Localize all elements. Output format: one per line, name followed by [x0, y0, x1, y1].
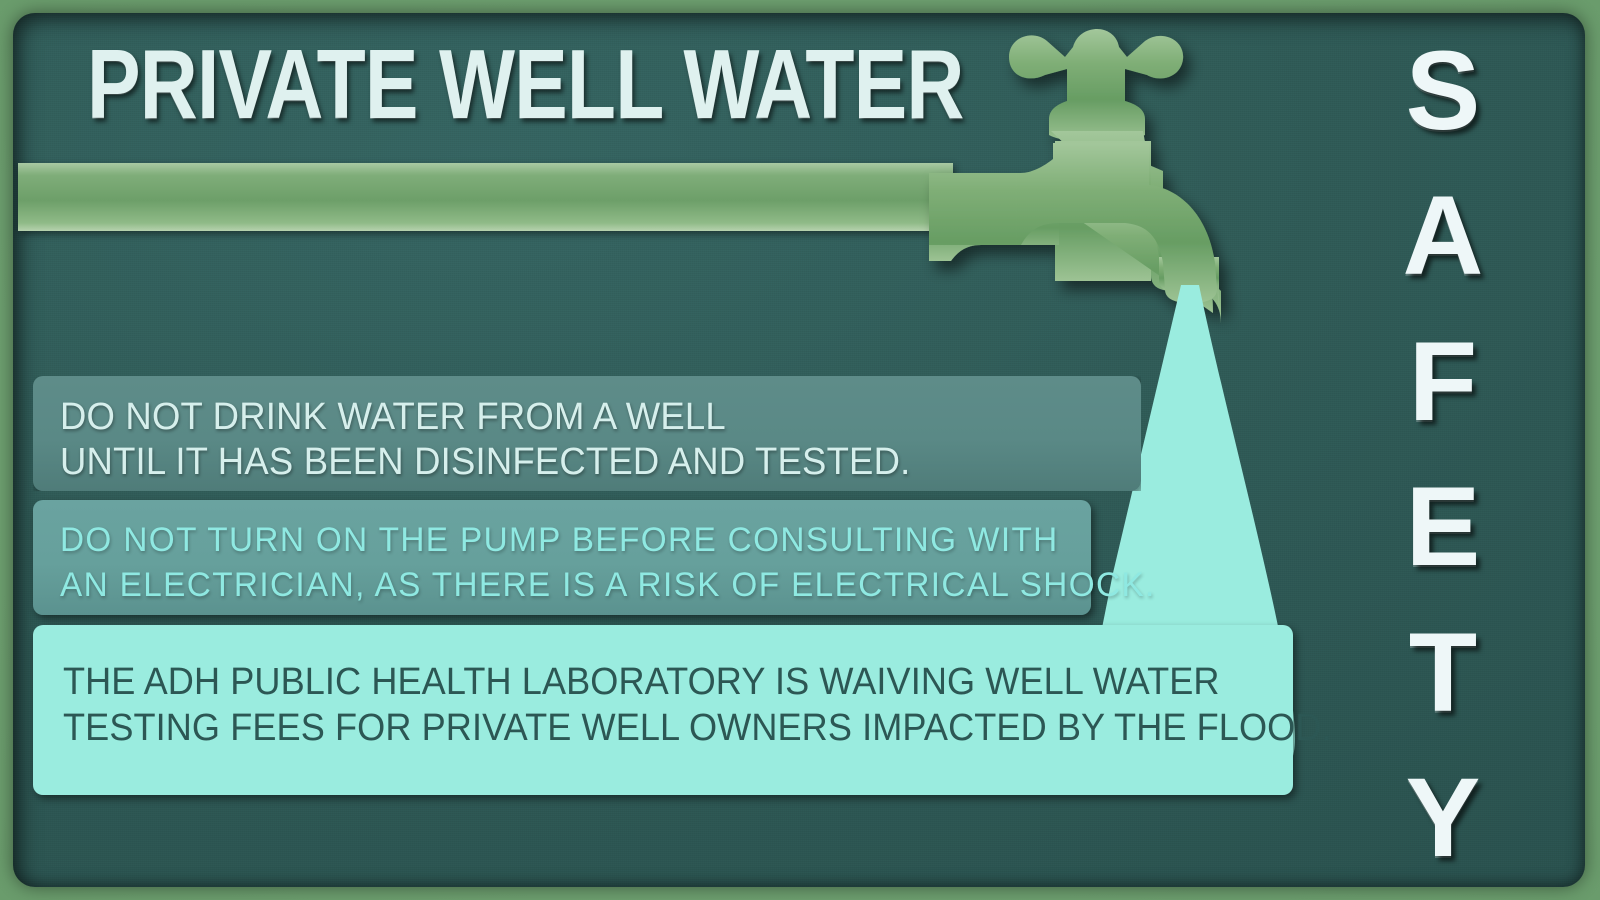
safety-letter-t: T	[1409, 621, 1477, 724]
safety-letter-s: S	[1406, 39, 1481, 142]
message-block-3-text: THE ADH PUBLIC HEALTH LABORATORY IS WAIV…	[63, 659, 1332, 751]
page-title: PRIVATE WELL WATER	[87, 35, 964, 133]
safety-word: S A F E T Y	[1363, 21, 1523, 881]
message-block-2-text: DO NOT TURN ON THE PUMP BEFORE CONSULTIN…	[60, 518, 1156, 608]
safety-letter-f: F	[1409, 330, 1477, 433]
message-block-3: THE ADH PUBLIC HEALTH LABORATORY IS WAIV…	[33, 625, 1293, 795]
poster: DO NOT DRINK WATER FROM A WELL UNTIL IT …	[0, 0, 1600, 900]
safety-letter-e: E	[1406, 475, 1481, 578]
poster-panel: DO NOT DRINK WATER FROM A WELL UNTIL IT …	[13, 13, 1585, 887]
safety-letter-a: A	[1403, 184, 1484, 287]
message-block-1: DO NOT DRINK WATER FROM A WELL UNTIL IT …	[33, 376, 1141, 491]
message-block-1-text: DO NOT DRINK WATER FROM A WELL UNTIL IT …	[60, 395, 910, 485]
message-block-2: DO NOT TURN ON THE PUMP BEFORE CONSULTIN…	[33, 500, 1091, 615]
safety-letter-y: Y	[1406, 766, 1481, 869]
pipe-bar	[18, 163, 953, 231]
